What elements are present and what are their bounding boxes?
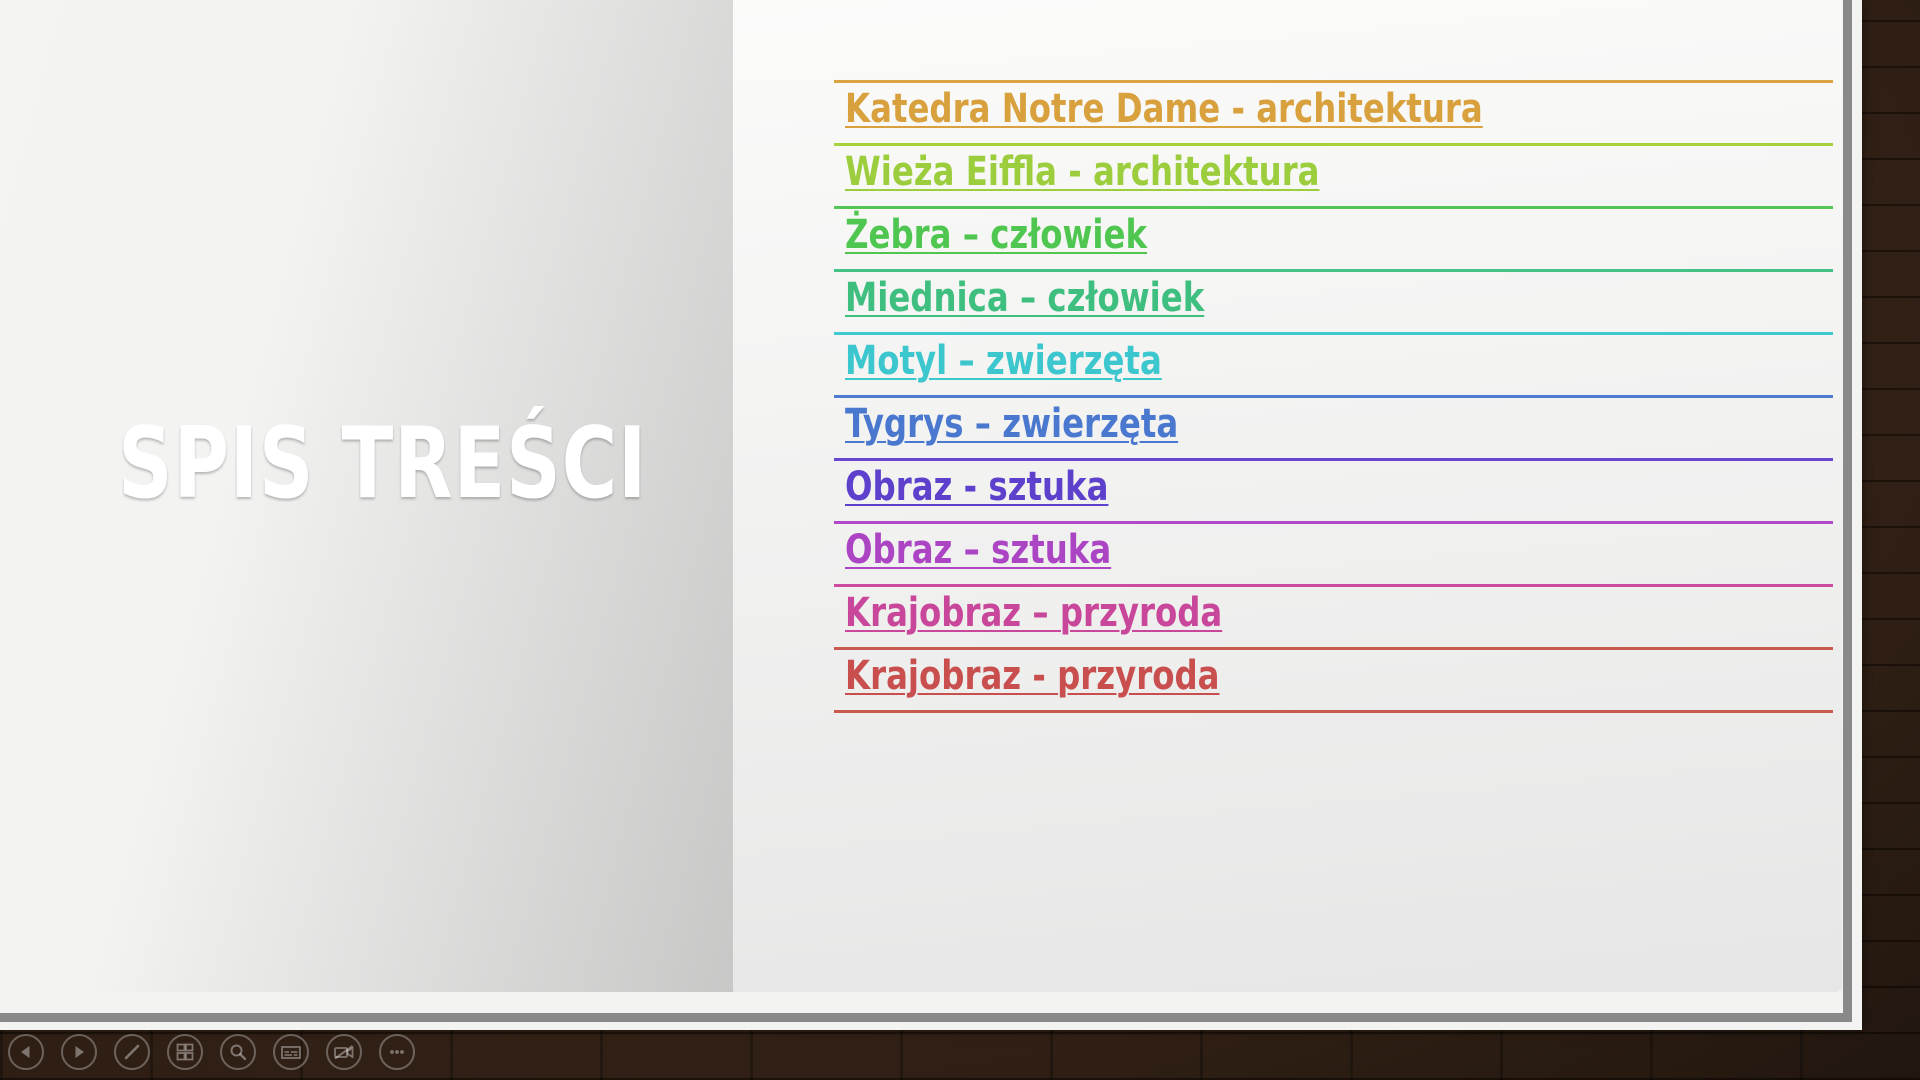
presentation-slide: SPIS TREŚCI Katedra Notre Dame - archite… bbox=[0, 0, 1842, 992]
more-options-button[interactable] bbox=[379, 1034, 415, 1070]
toc-separator-rule bbox=[834, 395, 1833, 398]
toc-separator-rule bbox=[834, 143, 1833, 146]
page-title: SPIS TREŚCI bbox=[118, 415, 600, 513]
toc-link[interactable]: Tygrys – zwierzęta bbox=[845, 403, 1178, 445]
toc-separator-rule bbox=[834, 206, 1833, 209]
toc-separator-rule bbox=[834, 332, 1833, 335]
toc-row: Żebra – człowiek bbox=[834, 206, 1833, 269]
toc-row: Obraz – sztuka bbox=[834, 521, 1833, 584]
magnifier-icon bbox=[228, 1042, 248, 1062]
slide-title-panel: SPIS TREŚCI bbox=[0, 0, 733, 992]
toc-link[interactable]: Krajobraz - przyroda bbox=[845, 655, 1220, 697]
toc-separator-rule bbox=[834, 80, 1833, 83]
slide-frame: SPIS TREŚCI Katedra Notre Dame - archite… bbox=[0, 0, 1862, 1030]
toc-row: Motyl – zwierzęta bbox=[834, 332, 1833, 395]
subtitles-button[interactable] bbox=[273, 1034, 309, 1070]
camera-off-button[interactable] bbox=[326, 1034, 362, 1070]
toc-row: Tygrys – zwierzęta bbox=[834, 395, 1833, 458]
toc-row: Wieża Eiffla - architektura bbox=[834, 143, 1833, 206]
ellipsis-icon bbox=[387, 1042, 407, 1062]
presenter-toolbar bbox=[0, 1024, 1920, 1080]
toc-link[interactable]: Krajobraz – przyroda bbox=[845, 592, 1222, 634]
toc-row: Krajobraz – przyroda bbox=[834, 584, 1833, 647]
toc-link[interactable]: Miednica – człowiek bbox=[845, 277, 1204, 319]
triangle-left-icon bbox=[17, 1043, 35, 1061]
pen-tool-button[interactable] bbox=[114, 1034, 150, 1070]
toc-link[interactable]: Katedra Notre Dame - architektura bbox=[845, 88, 1483, 130]
zoom-button[interactable] bbox=[220, 1034, 256, 1070]
subtitles-icon bbox=[280, 1042, 302, 1062]
grid-slides-icon bbox=[175, 1042, 195, 1062]
toc-row: Krajobraz - przyroda bbox=[834, 647, 1833, 710]
toc-link[interactable]: Wieża Eiffla - architektura bbox=[845, 151, 1320, 193]
toc-separator-rule bbox=[834, 521, 1833, 524]
table-of-contents: Katedra Notre Dame - architekturaWieża E… bbox=[834, 80, 1833, 710]
toc-separator-rule bbox=[834, 458, 1833, 461]
camera-off-icon bbox=[333, 1042, 355, 1062]
toc-link[interactable]: Obraz - sztuka bbox=[845, 466, 1108, 508]
toc-separator-rule bbox=[834, 269, 1833, 272]
pen-icon bbox=[122, 1042, 142, 1062]
toc-link[interactable]: Obraz – sztuka bbox=[845, 529, 1111, 571]
slide-content-panel: Katedra Notre Dame - architekturaWieża E… bbox=[733, 0, 1842, 992]
toc-row: Katedra Notre Dame - architektura bbox=[834, 80, 1833, 143]
next-slide-button[interactable] bbox=[61, 1034, 97, 1070]
previous-slide-button[interactable] bbox=[8, 1034, 44, 1070]
all-slides-button[interactable] bbox=[167, 1034, 203, 1070]
toc-separator-rule bbox=[834, 647, 1833, 650]
toc-separator-rule bbox=[834, 710, 1833, 713]
triangle-right-icon bbox=[70, 1043, 88, 1061]
toc-link[interactable]: Żebra – człowiek bbox=[845, 214, 1147, 256]
toc-row: Miednica – człowiek bbox=[834, 269, 1833, 332]
toc-link[interactable]: Motyl – zwierzęta bbox=[845, 340, 1162, 382]
toc-separator-rule bbox=[834, 584, 1833, 587]
toc-row: Obraz - sztuka bbox=[834, 458, 1833, 521]
